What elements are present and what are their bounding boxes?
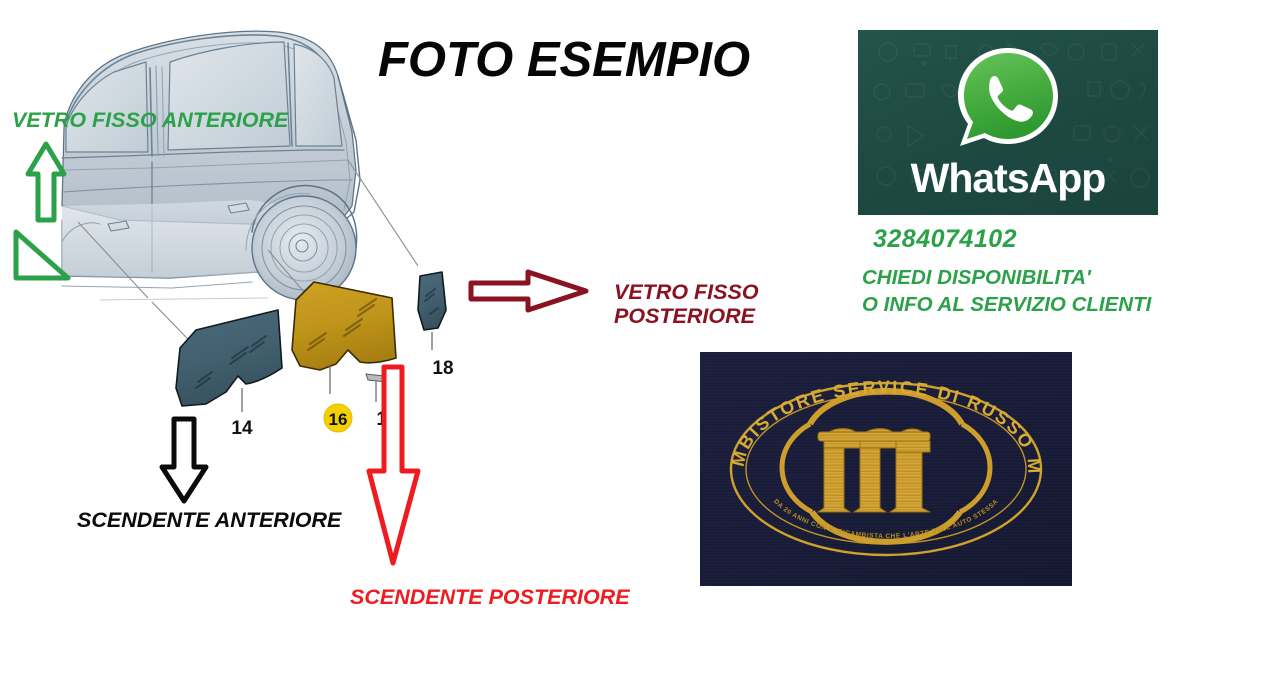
triangle-icon — [16, 232, 68, 278]
contact-instructions: CHIEDI DISPONIBILITA' O INFO AL SERVIZIO… — [862, 264, 1151, 318]
shop-logo: MRICAMBISTORE SERVICE DI RUSSO MARCO DA … — [700, 352, 1072, 586]
right-arrow-icon — [471, 272, 586, 310]
page-title: FOTO ESEMPIO — [378, 36, 750, 85]
label-front-drop-glass: SCENDENTE ANTERIORE — [77, 508, 341, 532]
whatsapp-wordmark: WhatsApp — [858, 158, 1158, 199]
down-arrow-icon — [162, 419, 206, 501]
green-arrow-svg — [2, 128, 80, 286]
phone-number: 3284074102 — [873, 225, 1017, 254]
logo-tagline: DA 20 ANNI CON IL RICAMBISTA CHE L'ARTE … — [772, 498, 1000, 540]
front-drop-glass-pointer — [152, 415, 214, 512]
label-rear-fixed-glass-line1: VETRO FISSO — [614, 280, 759, 304]
label-rear-fixed-glass-line2: POSTERIORE — [614, 304, 759, 328]
black-down-arrow-svg — [152, 415, 214, 507]
red-down-arrow-svg — [360, 363, 430, 571]
label-rear-fixed-glass: VETRO FISSO POSTERIORE — [614, 280, 759, 328]
label-rear-drop-glass: SCENDENTE POSTERIORE — [350, 585, 630, 609]
shop-logo-svg: MRICAMBISTORE SERVICE DI RUSSO MARCO DA … — [700, 352, 1072, 586]
callout-18-number: 18 — [432, 358, 453, 379]
whatsapp-banner: WhatsApp — [858, 30, 1158, 215]
whatsapp-logo-icon — [948, 44, 1068, 156]
contact-line-2: O INFO AL SERVIZIO CLIENTI — [862, 291, 1151, 318]
up-arrow-icon — [28, 144, 64, 220]
logo-monogram — [818, 429, 930, 513]
callout-14-number: 14 — [231, 418, 253, 439]
front-fixed-glass-pointer — [2, 128, 80, 291]
glass-part-16 — [292, 282, 396, 370]
contact-line-1: CHIEDI DISPONIBILITA' — [862, 264, 1151, 291]
label-front-fixed-glass: VETRO FISSO ANTERIORE — [12, 108, 288, 132]
long-down-arrow-icon — [369, 367, 418, 563]
glass-part-14 — [176, 310, 282, 406]
logo-arc-right — [960, 424, 990, 512]
callout-16-number: 16 — [329, 410, 348, 429]
rear-fixed-glass-pointer — [466, 267, 594, 320]
glass-part-18 — [418, 272, 446, 330]
logo-arc-left — [782, 424, 812, 512]
rear-drop-glass-pointer — [360, 363, 430, 576]
dark-red-right-arrow-svg — [466, 267, 594, 315]
poster-canvas: 14 16 17 18 FOTO ESEMPIO VETRO FISSO ANT — [0, 0, 1264, 678]
